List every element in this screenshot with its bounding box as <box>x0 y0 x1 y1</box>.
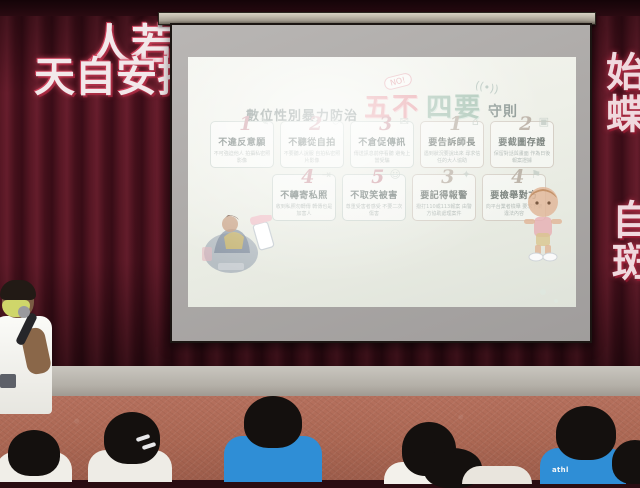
rule-label: 不轉寄私照 <box>280 188 328 201</box>
rule-card-dont-5[interactable]: 5 ☺ 不取笑被害 尊重受害者感受 不要二次傷害 <box>342 174 406 221</box>
rule-card-do-2[interactable]: 2 ▣ 要截圖存證 保留對話與畫面 作為日後報案證據 <box>490 121 554 168</box>
rule-card-dont-3[interactable]: 3 ✉ 不倉促傳訊 傳送訊息前停看聽 避免上當受騙 <box>350 121 414 168</box>
rule-sub: 尊重受害者感受 不要二次傷害 <box>345 204 403 219</box>
police-siren-icon: ✦ <box>462 168 471 181</box>
banner-right-upper: 始蝶 <box>606 52 640 136</box>
rule-number: 2 <box>519 113 532 135</box>
phone-illustration <box>250 215 284 255</box>
student-head <box>556 406 616 460</box>
decor-dot <box>540 289 546 295</box>
rule-sub: 撥打110或113報案 由警方協助處理案件 <box>415 204 473 219</box>
rule-card-dont-4[interactable]: 4 ⇥ 不轉寄私照 收到私照勿轉傳 轉傳也是加害人 <box>272 174 336 221</box>
rules-grid: 1 ✎ 不違反意願 不可強迫他人 拍攝私密照影像 2 ⌾ 不聽從自拍 不要聽人說… <box>210 121 558 227</box>
forward-photo-icon: ⇥ <box>322 168 331 181</box>
presenter <box>0 282 68 414</box>
report-icon: ⚑ <box>531 168 541 181</box>
rule-sub: 傳送訊息前停看聽 避免上當受騙 <box>353 151 411 166</box>
rule-label: 不聽從自拍 <box>288 135 336 148</box>
shirt-logo-text: athl <box>552 466 569 474</box>
projection-screen: 數位性別暴力防治 五不 四要 守則 NO! ((•)) 1 ✎ 不違反意願 不可… <box>170 23 592 343</box>
rule-number: 4 <box>301 166 314 188</box>
student-head <box>104 412 160 464</box>
presenter-pocket <box>0 374 16 388</box>
rule-number: 1 <box>239 113 252 135</box>
banner-right-upper-text: 始蝶 <box>606 52 640 136</box>
rule-label: 不違反意願 <box>218 135 266 148</box>
rule-card-do-3[interactable]: 3 ✦ 要記得報警 撥打110或113報案 由警方協助處理案件 <box>412 174 476 221</box>
presenter-hair <box>0 280 36 300</box>
microphone-head <box>18 306 30 318</box>
student-head <box>8 430 60 476</box>
rule-number: 2 <box>309 113 322 135</box>
no-mock-icon: ☺ <box>390 168 401 181</box>
banner-right-lower-text: 自斑 <box>612 200 640 284</box>
rule-card-dont-2[interactable]: 2 ⌾ 不聽從自拍 不要聽人說服 自拍私密照片影像 <box>280 121 344 168</box>
student-shirt <box>462 466 532 484</box>
screenshot-icon: ▣ <box>539 115 549 128</box>
rule-card-do-1[interactable]: 1 ⌂ 要告訴師長 遇到狀況要說出來 尋求信任的大人協助 <box>420 121 484 168</box>
rule-number: 5 <box>371 166 384 188</box>
selfie-icon: ⌾ <box>332 115 339 129</box>
teacher-icon: ⌂ <box>472 115 479 128</box>
rules-row-top: 1 ✎ 不違反意願 不可強迫他人 拍攝私密照影像 2 ⌾ 不聽從自拍 不要聽人說… <box>210 121 558 168</box>
banner-right-lower: 自斑 <box>612 200 640 284</box>
no-consent-icon: ✎ <box>260 115 269 128</box>
presentation-slide: 數位性別暴力防治 五不 四要 守則 NO! ((•)) 1 ✎ 不違反意願 不可… <box>188 57 576 307</box>
rule-label: 要截圖存證 <box>498 135 546 148</box>
rule-card-dont-1[interactable]: 1 ✎ 不違反意願 不可強迫他人 拍攝私密照影像 <box>210 121 274 168</box>
rule-label: 要告訴師長 <box>428 135 476 148</box>
rule-number: 1 <box>449 113 462 135</box>
rule-sub: 不要聽人說服 自拍私密照片影像 <box>283 151 341 166</box>
student-head <box>244 396 302 448</box>
stage-edge <box>0 366 640 398</box>
rule-sub: 不可強迫他人 拍攝私密照影像 <box>213 151 271 166</box>
rule-number: 3 <box>379 113 392 135</box>
rule-label: 不倉促傳訊 <box>358 135 406 148</box>
rules-row-bottom: 4 ⇥ 不轉寄私照 收到私照勿轉傳 轉傳也是加害人 5 ☺ 不取笑被害 尊重受害… <box>210 174 558 221</box>
message-icon: ✉ <box>400 115 409 128</box>
auditorium-scene: 人若精彩 天自安排 始蝶 自斑 數位性別暴力防治 五不 四要 守則 NO! ((… <box>0 0 640 480</box>
rule-label: 要記得報警 <box>420 188 468 201</box>
rule-label: 不取笑被害 <box>350 188 398 201</box>
cartoon-mascot <box>520 185 566 263</box>
rule-sub: 遇到狀況要說出來 尋求信任的大人協助 <box>423 151 481 166</box>
rule-number: 3 <box>441 166 454 188</box>
decor-dot <box>554 299 558 303</box>
rule-sub: 保留對話與畫面 作為日後報案證據 <box>493 151 551 166</box>
